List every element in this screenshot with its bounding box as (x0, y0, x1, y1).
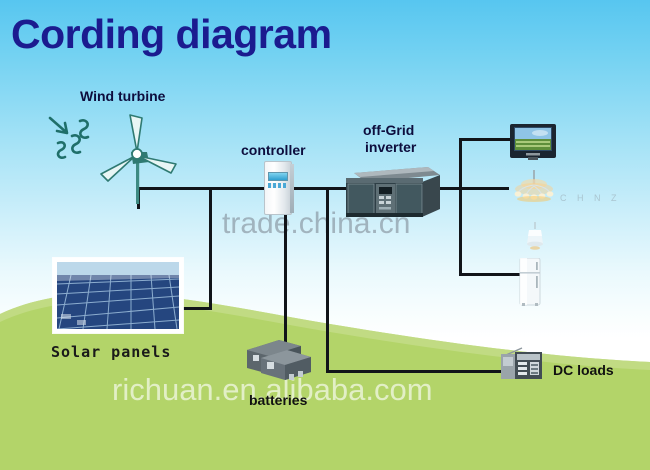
wire-bus-to-dc-vertical (326, 187, 329, 373)
wire-ac-riser (459, 138, 462, 276)
label-solar-panels: Solar panels (51, 344, 171, 361)
label-batteries: batteries (249, 392, 307, 408)
label-controller: controller (241, 142, 306, 158)
solar-panel-icon (53, 258, 183, 333)
cording-diagram-canvas: Cording diagram trade.china.cn richuan.e… (0, 0, 650, 470)
refrigerator-icon (519, 258, 543, 306)
wire-riser-to-refrigerator (459, 273, 521, 276)
pendant-lamp-icon (524, 222, 546, 252)
chandelier-icon (508, 170, 560, 204)
label-dc-loads: DC loads (553, 362, 614, 378)
charge-controller-icon (264, 161, 294, 213)
label-inverter-line2: inverter (365, 139, 416, 155)
inverter-icon (344, 163, 440, 217)
television-icon (510, 124, 556, 160)
label-inverter-line1: off-Grid (363, 122, 414, 138)
wire-bus-to-solar-vertical (209, 187, 212, 310)
wire-controller-to-inverter (292, 187, 347, 190)
wire-dc-loads-horizontal (326, 370, 504, 373)
wind-turbine-icon (97, 112, 181, 204)
dc-load-device-icon (500, 347, 544, 381)
label-wind-turbine: Wind turbine (80, 88, 165, 104)
page-title: Cording diagram (11, 12, 332, 57)
battery-bank-icon (243, 338, 315, 382)
wire-riser-to-chandelier (459, 187, 509, 190)
wire-riser-to-tv (459, 138, 511, 141)
